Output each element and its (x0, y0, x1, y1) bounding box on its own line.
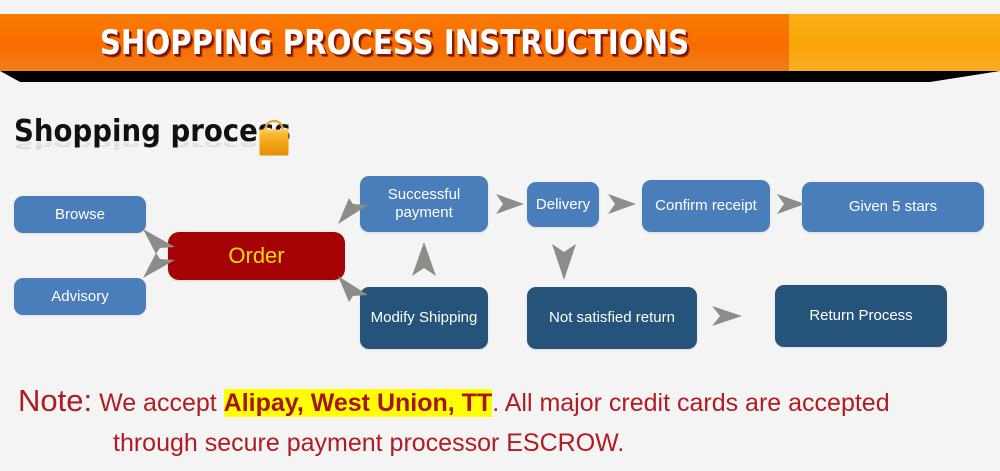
flow-node-modify-shipping[interactable]: Modify Shipping (360, 287, 488, 349)
arrow-modify-shipping-to-successful-payment (410, 240, 438, 282)
flow-node-browse[interactable]: Browse (14, 196, 146, 233)
arrow-order-to-modify-shipping (336, 272, 370, 304)
flow-node-label: Not satisfied return (549, 309, 675, 327)
arrow-advisory-to-order (142, 250, 178, 282)
note-line1-prefix: We accept (99, 389, 224, 417)
note-highlighted-payment-methods: Alipay, West Union, TT (224, 389, 493, 417)
banner-title: SHOPPING PROCESS INSTRUCTIONS (55, 14, 734, 71)
flow-node-delivery[interactable]: Delivery (527, 182, 599, 227)
note-label: Note: (18, 383, 92, 418)
note-line2: through secure payment processor ESCROW. (18, 423, 993, 463)
arrow-order-to-successful-payment (336, 196, 370, 228)
flow-node-advisory[interactable]: Advisory (14, 278, 146, 315)
flow-node-successful-payment[interactable]: Successful payment (360, 176, 488, 232)
flow-node-given-5-stars[interactable]: Given 5 stars (802, 182, 984, 232)
flow-node-label: Order (228, 243, 284, 269)
banner-right-panel (789, 14, 1000, 71)
flow-node-not-satisfied-return[interactable]: Not satisfied return (527, 287, 697, 349)
flow-node-label: Confirm receipt (655, 197, 757, 215)
flow-node-label: Modify Shipping (371, 309, 478, 327)
flow-node-label: Successful payment (366, 186, 482, 221)
shopping-process-infographic: SHOPPING PROCESS INSTRUCTIONS Shopping p… (0, 0, 1000, 471)
note-line1-suffix: . All major credit cards are accepted (492, 389, 889, 417)
header-banner: SHOPPING PROCESS INSTRUCTIONS (0, 14, 1000, 71)
payment-note: Note: We accept Alipay, West Union, TT. … (18, 381, 993, 463)
arrow-confirm-receipt-to-given-5-stars (775, 190, 807, 218)
flow-node-label: Browse (55, 206, 105, 224)
arrow-not-satisfied-return-to-return-process (710, 302, 744, 330)
arrow-successful-payment-to-delivery (494, 190, 526, 218)
arrow-delivery-to-confirm-receipt (606, 190, 638, 218)
flow-node-confirm-receipt[interactable]: Confirm receipt (642, 180, 770, 232)
arrow-delivery-to-not-satisfied-return (550, 238, 578, 282)
flow-node-label: Return Process (809, 307, 912, 325)
flow-node-label: Delivery (536, 196, 590, 214)
flow-node-order[interactable]: Order (168, 232, 345, 280)
banner-drop-shadow (0, 71, 1000, 82)
flow-node-label: Advisory (51, 288, 109, 306)
page-title: Shopping process (14, 117, 291, 147)
flow-node-label: Given 5 stars (849, 198, 937, 216)
shopping-bag-icon (252, 116, 296, 160)
flow-node-return-process[interactable]: Return Process (775, 285, 947, 347)
